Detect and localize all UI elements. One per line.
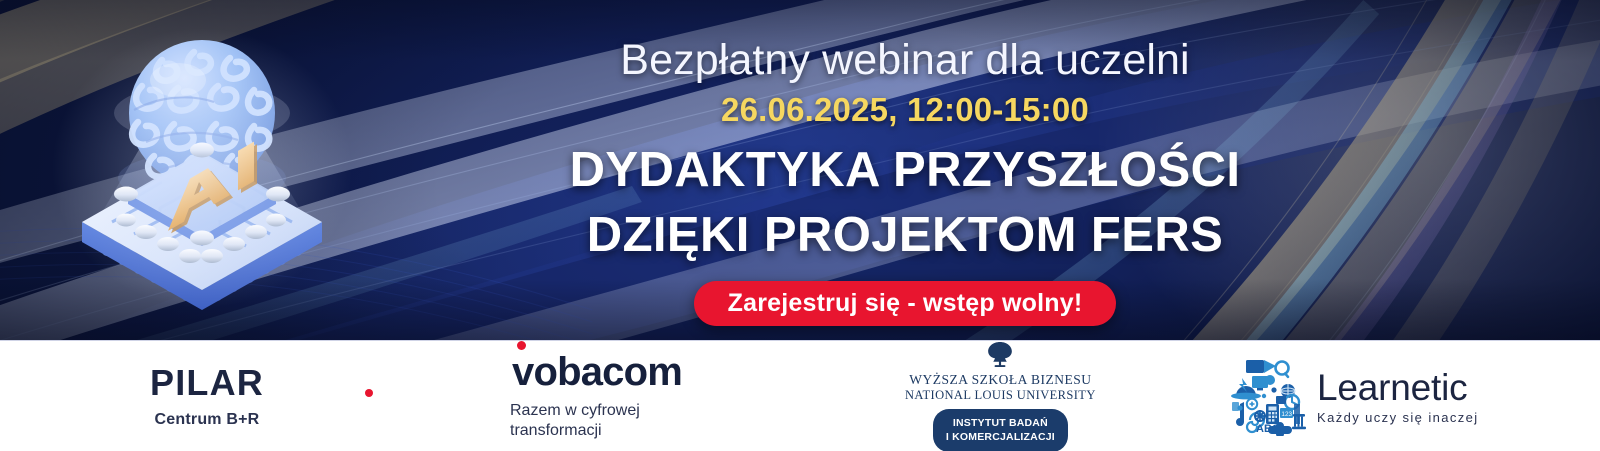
hero-kicker: Bezpłatny webinar dla uczelni xyxy=(520,38,1290,84)
vobacom-tagline-line-1: Razem w cyfrowej xyxy=(510,401,640,421)
education-icons-mosaic-icon: 123 xyxy=(1230,358,1308,436)
partner-logo-bar: PILAR Centrum B+R vobacom Razem w cyfrow… xyxy=(0,340,1600,451)
logo-vobacom[interactable]: vobacom Razem w cyfrowej transformacji xyxy=(510,341,682,451)
wsb-title-line-2: NATIONAL LOUIS UNIVERSITY xyxy=(905,388,1096,403)
hero-section: Bezpłatny webinar dla uczelni 26.06.2025… xyxy=(0,0,1600,340)
vobacom-red-dot-icon xyxy=(517,341,526,350)
webinar-promo-banner: Bezpłatny webinar dla uczelni 26.06.2025… xyxy=(0,0,1600,451)
brain-hologram-on-ai-chip-icon xyxy=(42,18,362,338)
vobacom-wordmark: vobacom xyxy=(510,352,682,392)
hero-headline: DYDAKTYKA PRZYSZŁOŚCI DZIĘKI PROJEKTOM F… xyxy=(520,138,1290,267)
logo-wsb-nlu[interactable]: WYŻSZA SZKOŁA BIZNESU NATIONAL LOUIS UNI… xyxy=(905,341,1096,451)
learnetic-text-block: Learnetic Każdy uczy się inaczej xyxy=(1317,369,1479,425)
wsb-badge-line-1: INSTYTUT BADAŃ xyxy=(933,416,1068,430)
pilar-tagline: Centrum B+R xyxy=(155,411,260,429)
learnetic-tagline: Każdy uczy się inaczej xyxy=(1317,410,1479,425)
logo-learnetic[interactable]: 123 xyxy=(1230,341,1479,451)
hero-headline-line-1: DYDAKTYKA PRZYSZŁOŚCI xyxy=(520,138,1290,203)
hero-date-time: 26.06.2025, 12:00-15:00 xyxy=(520,92,1290,128)
vobacom-tagline: Razem w cyfrowej transformacji xyxy=(510,401,640,441)
pilar-wordmark: PILAR xyxy=(150,365,264,401)
vobacom-wordmark-text: vobacom xyxy=(512,350,682,394)
cta-container: Zarejestruj się - wstęp wolny! xyxy=(520,281,1290,326)
wsb-institute-badge[interactable]: INSTYTUT BADAŃ I KOMERCJALIZACJI xyxy=(933,409,1068,451)
register-button[interactable]: Zarejestruj się - wstęp wolny! xyxy=(694,281,1117,326)
vobacom-tagline-line-2: transformacji xyxy=(510,421,640,441)
pilar-red-dot-icon xyxy=(365,389,373,397)
wsb-title-line-1: WYŻSZA SZKOŁA BIZNESU xyxy=(909,372,1091,388)
hero-copy-block: Bezpłatny webinar dla uczelni 26.06.2025… xyxy=(520,38,1290,330)
wsb-badge-line-2: I KOMERCJALIZACJI xyxy=(933,430,1068,444)
tree-icon xyxy=(984,341,1016,369)
svg-text:123: 123 xyxy=(1281,411,1292,418)
logo-pilar[interactable]: PILAR Centrum B+R xyxy=(150,341,264,451)
learnetic-wordmark: Learnetic xyxy=(1317,369,1479,406)
hero-headline-line-2: DZIĘKI PROJEKTOM FERS xyxy=(520,203,1290,268)
